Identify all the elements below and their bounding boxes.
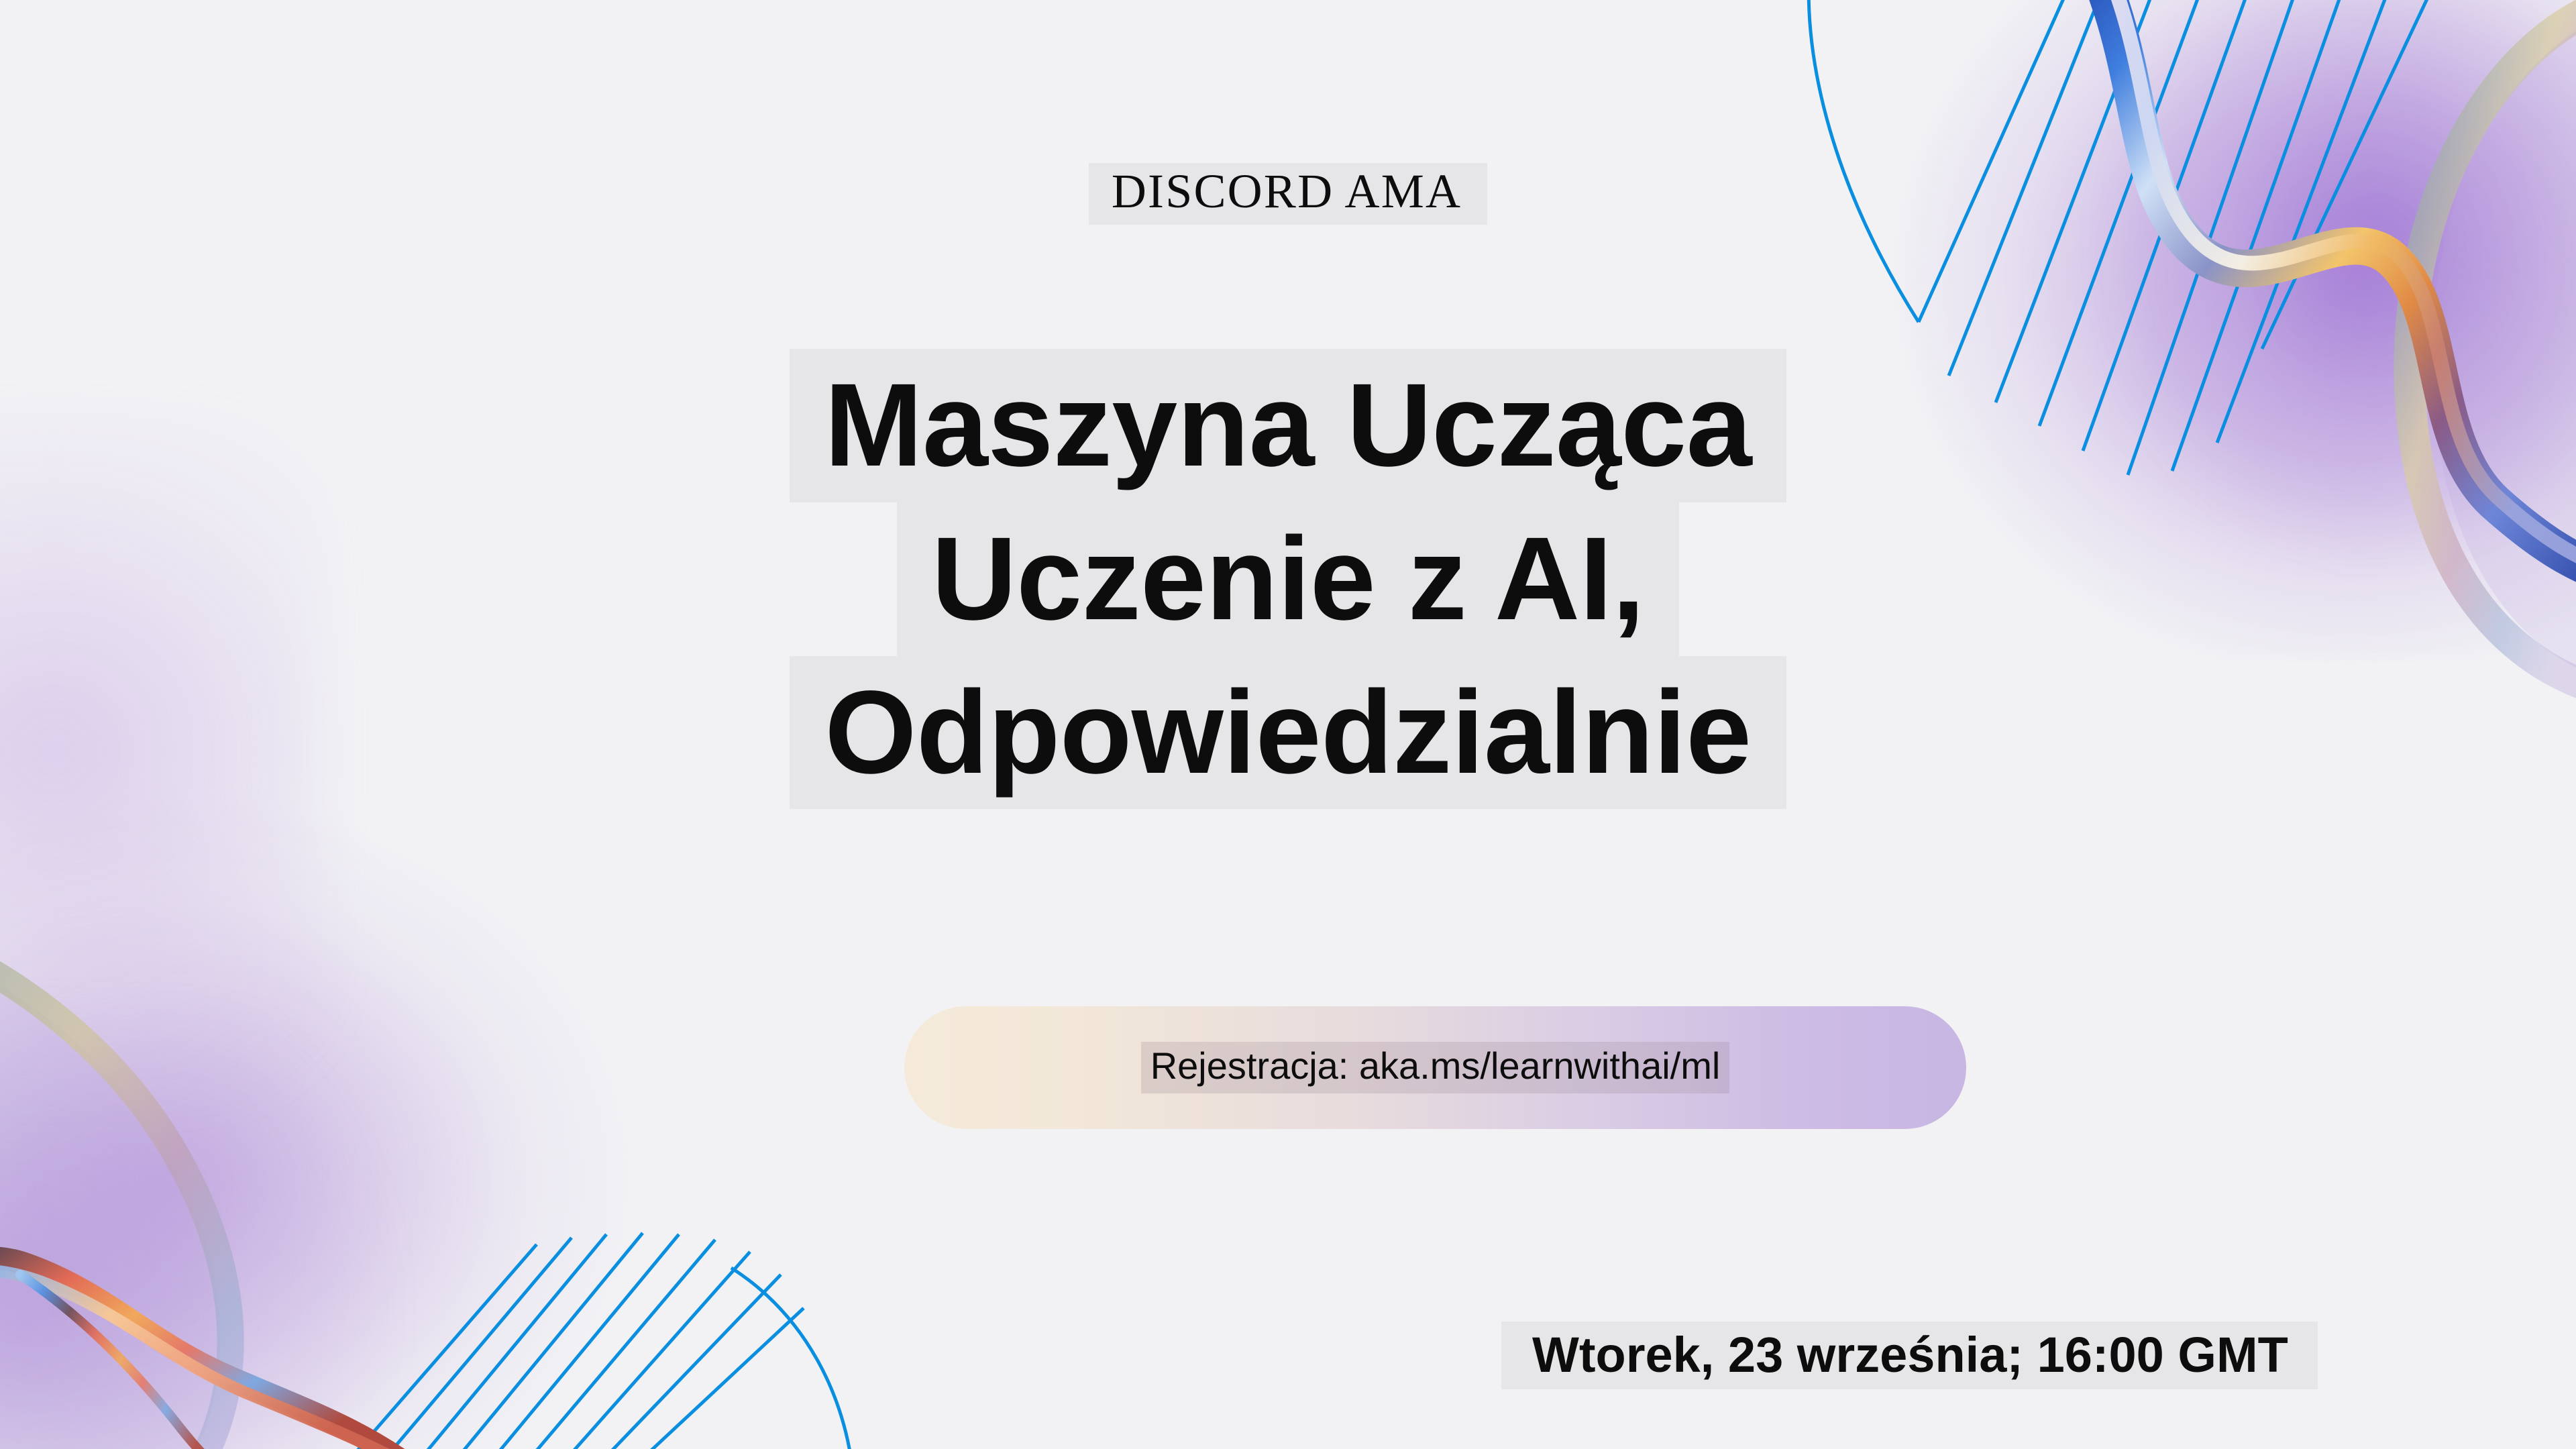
page-title: Maszyna Ucząca Uczenie z AI, Odpowiedzia… xyxy=(0,349,2576,809)
title-line-1-text: Maszyna Ucząca xyxy=(790,349,1786,502)
decoration-bottom-left xyxy=(0,872,872,1449)
registration-cta-button[interactable]: Rejestracja: aka.ms/learnwithai/ml xyxy=(904,1006,1966,1129)
arc-line-top-right-2 xyxy=(1919,0,2093,322)
arc-line-top-right xyxy=(1809,0,1919,322)
purple-glow-bottom-left xyxy=(0,792,664,1449)
ribbon-wave-bottom-left-2 xyxy=(0,1270,428,1449)
title-line-2: Uczenie z AI, xyxy=(0,502,2576,656)
event-date-time-text: Wtorek, 23 września; 16:00 GMT xyxy=(1501,1322,2318,1389)
hatch-lines-bottom-left xyxy=(335,1233,804,1449)
purple-glow-bottom-left-inner xyxy=(0,1020,423,1449)
kicker: DISCORD AMA xyxy=(0,163,2576,225)
ribbon-wave-bottom-left-3 xyxy=(20,1275,231,1449)
title-line-3-text: Odpowiedzialnie xyxy=(790,656,1786,810)
bubble-sphere-bottom-left xyxy=(0,899,231,1449)
bubble-sphere-bottom-left-fill xyxy=(0,912,220,1449)
arc-line-bottom-left xyxy=(731,1268,853,1449)
kicker-label: DISCORD AMA xyxy=(1089,163,1487,225)
title-line-1: Maszyna Ucząca xyxy=(0,349,2576,502)
poster-canvas: DISCORD AMA Maszyna Ucząca Uczenie z AI,… xyxy=(0,0,2576,1449)
ribbon-wave-bottom-left xyxy=(0,1258,423,1449)
title-line-2-text: Uczenie z AI, xyxy=(897,502,1680,656)
event-date-time: Wtorek, 23 września; 16:00 GMT xyxy=(1501,1322,2318,1389)
title-line-3: Odpowiedzialnie xyxy=(0,656,2576,810)
registration-cta-label: Rejestracja: aka.ms/learnwithai/ml xyxy=(1141,1042,1730,1093)
